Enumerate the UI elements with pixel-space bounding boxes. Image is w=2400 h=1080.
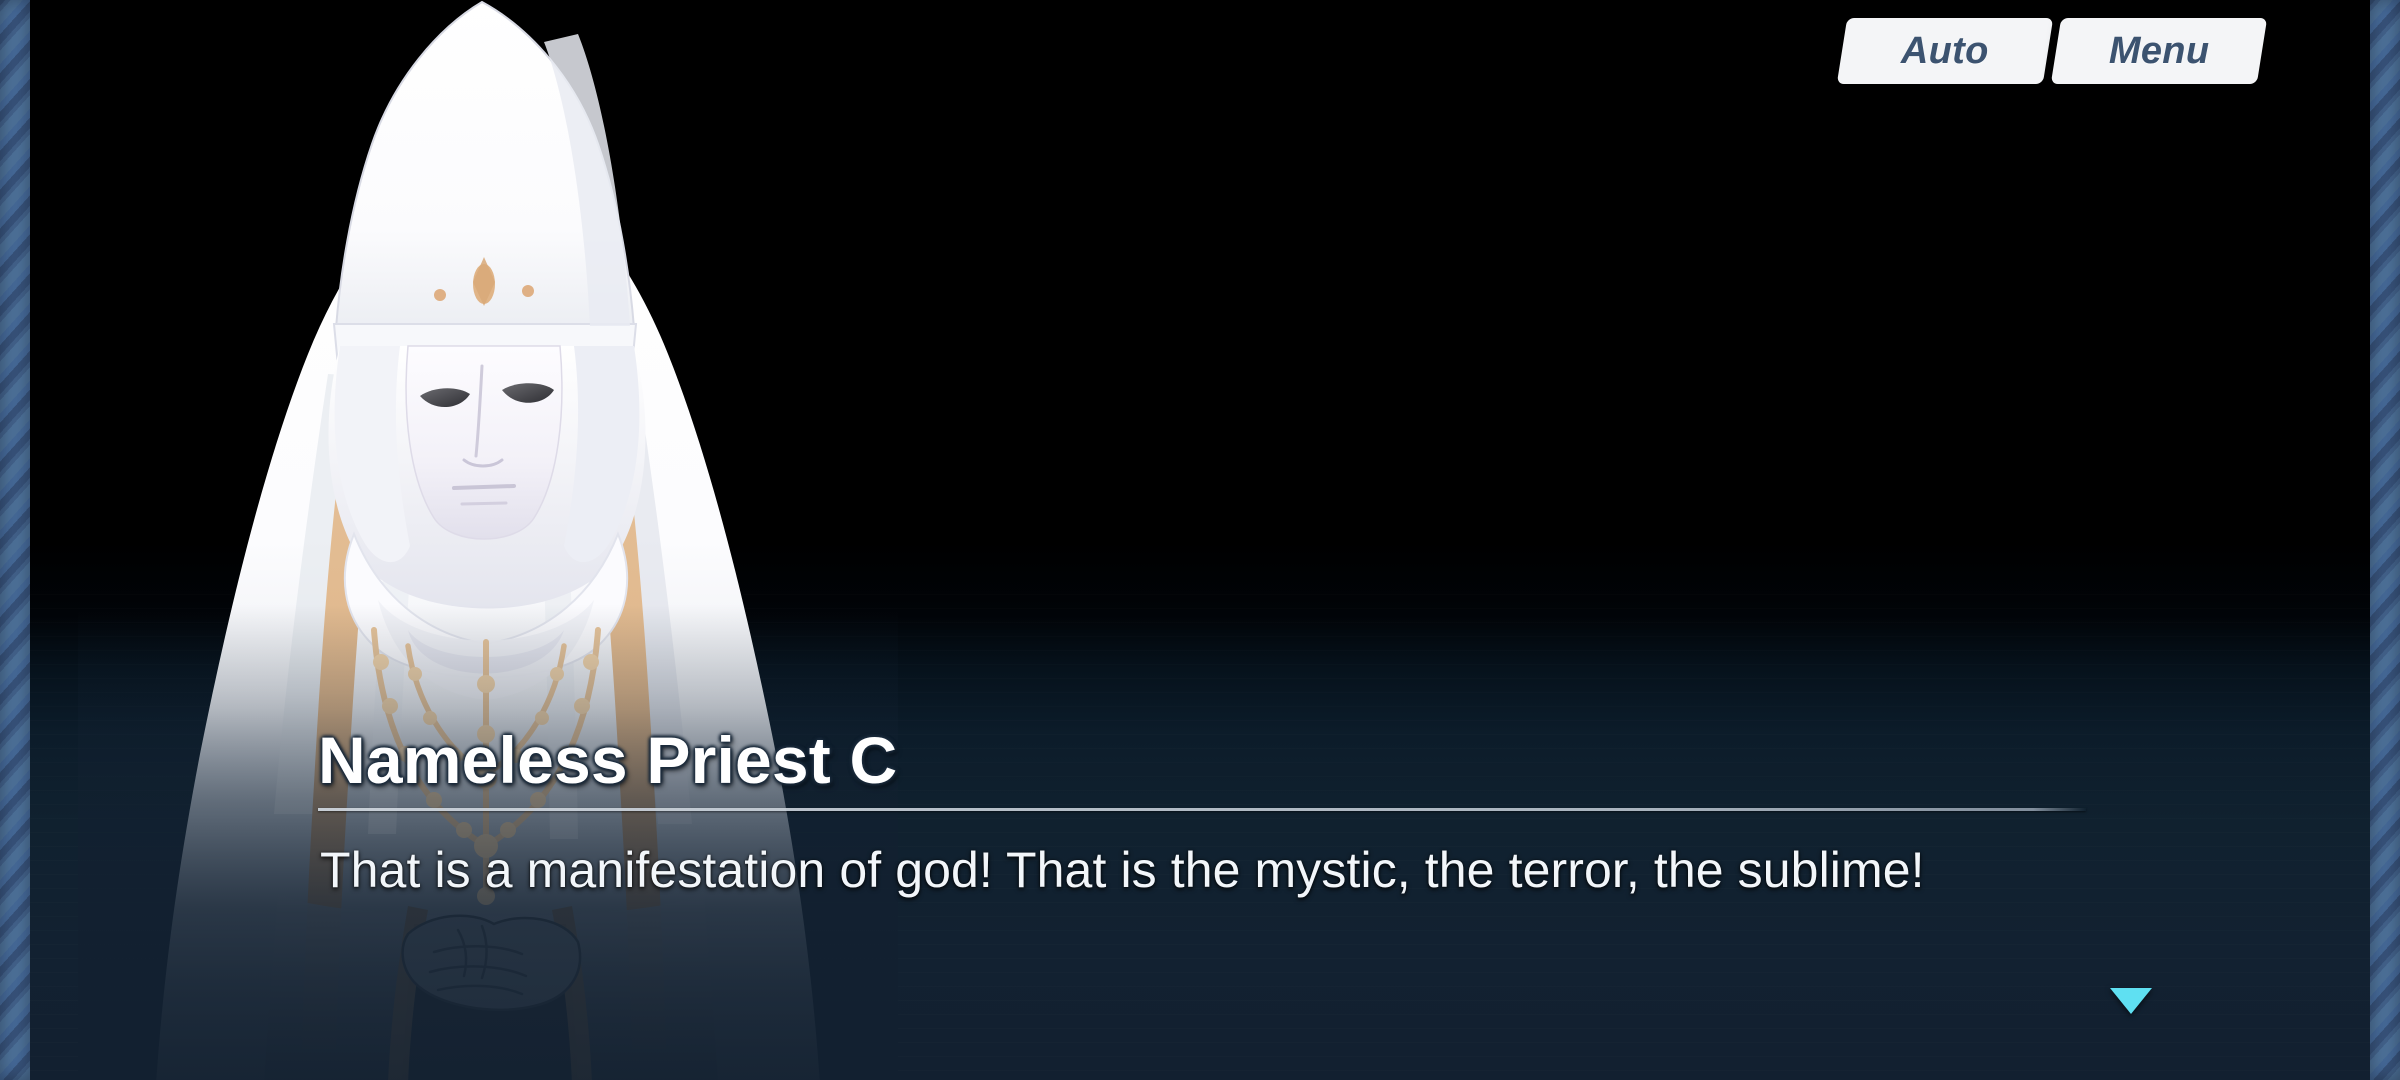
game-stage: Auto Menu Nameless Priest C That is a ma… bbox=[0, 0, 2400, 1080]
auto-button[interactable]: Auto bbox=[1837, 18, 2053, 84]
left-border-stripe bbox=[0, 0, 30, 1080]
continue-triangle-icon[interactable] bbox=[2110, 988, 2152, 1014]
right-border-stripe bbox=[2370, 0, 2400, 1080]
dialogue-advance-area[interactable] bbox=[30, 0, 2370, 1080]
menu-button-label: Menu bbox=[2109, 30, 2209, 73]
menu-button[interactable]: Menu bbox=[2051, 18, 2267, 84]
auto-button-label: Auto bbox=[1901, 30, 1989, 73]
quick-menu-bar: Auto Menu bbox=[1842, 18, 2262, 84]
